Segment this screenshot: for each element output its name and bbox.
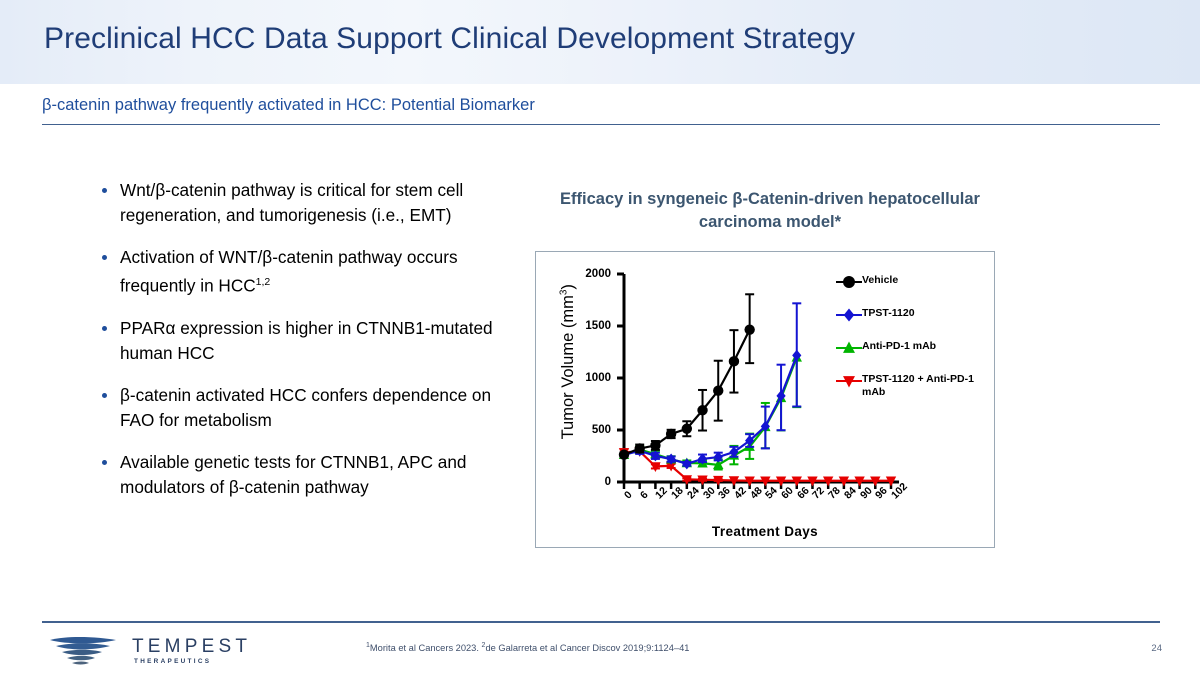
bullet-text: Activation of WNT/β-catenin pathway occu… (120, 247, 458, 296)
y-axis-label-tail: ) (559, 284, 577, 290)
bullet-item: Wnt/β-catenin pathway is critical for st… (96, 178, 528, 228)
legend-marker-triangle-down-icon (836, 374, 862, 388)
series-tpst-1120-anti-pd-1-mab (619, 447, 896, 486)
y-axis-label-exponent: 3 (558, 290, 569, 296)
y-tick-label: 2000 (585, 268, 611, 280)
bullet-superscript: 1,2 (256, 276, 271, 288)
legend-label: Anti-PD-1 mAb (862, 340, 936, 353)
bullet-text: Wnt/β-catenin pathway is critical for st… (120, 180, 463, 225)
legend-marker-triangle-up-icon (836, 341, 862, 355)
page-title: Preclinical HCC Data Support Clinical De… (44, 22, 855, 56)
legend-item[interactable]: TPST-1120 (836, 307, 986, 322)
tempest-swirl-icon (44, 634, 122, 668)
slide-subtitle: β-catenin pathway frequently activated i… (42, 96, 535, 115)
legend-item[interactable]: Vehicle (836, 274, 986, 289)
tempest-tagline: THERAPEUTICS (134, 658, 211, 665)
chart-panel: Tumor Volume (mm3) 0500100015002000 0612… (535, 251, 995, 548)
plot-area: Tumor Volume (mm3) 0500100015002000 0612… (536, 252, 994, 547)
bullet-item: Activation of WNT/β-catenin pathway occu… (96, 245, 528, 299)
chart-title: Efficacy in syngeneic β-Catenin-driven h… (560, 188, 980, 234)
bullet-item: Available genetic tests for CTNNB1, APC … (96, 450, 528, 500)
bullet-text: PPARα expression is higher in CTNNB1-mut… (120, 318, 493, 363)
y-tick-label: 500 (592, 424, 611, 436)
page-number: 24 (1151, 643, 1162, 654)
bullet-item: PPARα expression is higher in CTNNB1-mut… (96, 316, 528, 366)
chart-legend: VehicleTPST-1120Anti-PD-1 mAbTPST-1120 +… (836, 274, 986, 416)
footnote-text-1: Morita et al Cancers 2023. (370, 643, 482, 653)
x-axis-label: Treatment Days (536, 524, 994, 539)
legend-item[interactable]: TPST-1120 + Anti-PD-1 mAb (836, 373, 986, 398)
bullet-item: β-catenin activated HCC confers dependen… (96, 383, 528, 433)
bullet-text: Available genetic tests for CTNNB1, APC … (120, 452, 466, 497)
bullet-list: Wnt/β-catenin pathway is critical for st… (96, 178, 528, 517)
y-axis-label: Tumor Volume (mm3) (558, 267, 578, 457)
y-tick-label: 0 (605, 476, 611, 488)
subtitle-divider (42, 124, 1160, 125)
tempest-wordmark: TEMPEST (132, 636, 251, 658)
legend-item[interactable]: Anti-PD-1 mAb (836, 340, 986, 355)
legend-label: TPST-1120 + Anti-PD-1 mAb (862, 373, 986, 398)
tempest-logo: TEMPEST THERAPEUTICS (44, 634, 244, 670)
series-tpst-1120 (619, 303, 801, 469)
y-axis-label-text: Tumor Volume (mm (559, 295, 577, 439)
y-tick-label: 1500 (585, 320, 611, 332)
legend-label: TPST-1120 (862, 307, 915, 320)
footer-divider (42, 621, 1160, 623)
bullet-text: β-catenin activated HCC confers dependen… (120, 385, 491, 430)
legend-marker-circle-icon (836, 275, 862, 289)
footnote-text-2: de Galarreta et al Cancer Discov 2019;9:… (485, 643, 689, 653)
chart-title-text: Efficacy in syngeneic β-Catenin-driven h… (560, 190, 980, 231)
legend-label: Vehicle (862, 274, 898, 287)
legend-marker-diamond-icon (836, 308, 862, 322)
y-tick-label: 1000 (585, 372, 611, 384)
series-vehicle (619, 294, 755, 460)
footnote-references: 1Morita et al Cancers 2023. 2de Galarret… (366, 642, 689, 653)
